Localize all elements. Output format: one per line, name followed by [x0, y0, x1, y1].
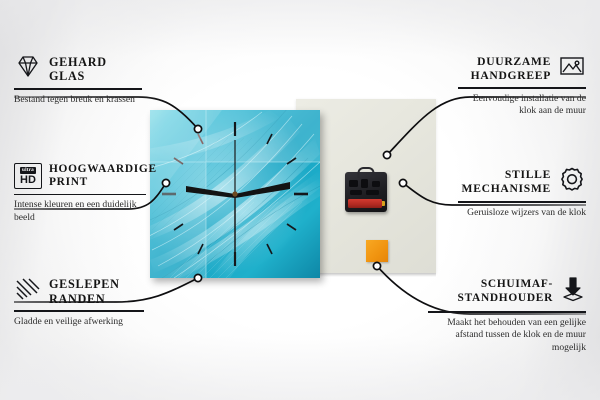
ultra-hd-icon-top-label: ultra — [20, 167, 36, 173]
feature-title: GEHARD GLAS — [49, 55, 107, 84]
feature-header: GEHARD GLAS — [14, 54, 142, 84]
feature-description: Maakt het behouden van een gelijke afsta… — [428, 317, 586, 355]
feature-title-line2: STANDHOUDER — [458, 292, 553, 305]
infographic-stage: GEHARD GLAS Bestand tegen breuk en krass… — [0, 0, 600, 400]
feature-title-line2: HANDGREEP — [471, 69, 551, 83]
clock-face — [150, 110, 320, 278]
feature-description: Gladde en veilige afwerking — [14, 316, 144, 329]
feature-header: DUURZAME HANDGREEP — [458, 54, 586, 83]
feature-gehard-glas: GEHARD GLAS Bestand tegen breuk en krass… — [14, 54, 142, 106]
feature-hoogwaardige-print: ultra HD HOOGWAARDIGE PRINT Intense kleu… — [14, 163, 146, 225]
feature-description: Bestand tegen breuk en krassen — [14, 94, 142, 107]
feature-title-line2: GLAS — [49, 69, 107, 83]
feature-title-line2: RANDEN — [49, 292, 120, 306]
feature-title-line2: PRINT — [49, 176, 157, 189]
feature-title-line1: GEHARD — [49, 55, 107, 69]
feature-description: Geruisloze wijzers van de klok — [458, 207, 586, 220]
feature-title-line1: STILLE — [462, 168, 551, 182]
feature-geslepen-randen: GESLEPEN RANDEN Gladde en veilige afwerk… — [14, 277, 144, 328]
feature-title-line1: GESLEPEN — [49, 277, 120, 291]
feature-divider — [14, 194, 146, 196]
feature-title-line1: HOOGWAARDIGE — [49, 163, 157, 176]
feature-stille-mechanisme: STILLE MECHANISME Geruisloze wijzers van… — [458, 166, 586, 219]
feature-divider — [14, 310, 144, 312]
feature-header: ultra HD HOOGWAARDIGE PRINT — [14, 163, 146, 190]
feature-schuimaf-standhouder: SCHUIMAF- STANDHOUDER Maakt het behouden… — [428, 276, 586, 354]
movement-hanger — [358, 167, 375, 178]
diagonal-lines-icon — [14, 277, 42, 306]
feature-header: GESLEPEN RANDEN — [14, 277, 144, 306]
feature-title: DUURZAME HANDGREEP — [471, 55, 551, 82]
feature-title: STILLE MECHANISME — [462, 168, 551, 195]
clock-movement — [345, 172, 387, 212]
gear-icon — [558, 166, 586, 197]
feature-title-line1: DUURZAME — [471, 55, 551, 69]
clock-face-artwork — [150, 110, 320, 278]
wall-clock — [150, 110, 320, 278]
feature-duurzame-handgreep: DUURZAME HANDGREEP Eenvoudige installati… — [458, 54, 586, 118]
ultra-hd-icon: ultra HD — [14, 163, 42, 189]
feature-description: Eenvoudige installatie van de klok aan d… — [458, 93, 586, 118]
feature-title-line1: SCHUIMAF- — [458, 278, 553, 291]
feature-title: SCHUIMAF- STANDHOUDER — [458, 278, 553, 305]
feature-divider — [14, 88, 142, 90]
feature-title: HOOGWAARDIGE PRINT — [49, 163, 157, 190]
feature-divider — [458, 87, 586, 89]
down-arrow-block-icon — [560, 276, 586, 307]
feature-description: Intense kleuren en een duidelijk beeld — [14, 199, 146, 224]
ultra-hd-icon-main-label: HD — [20, 175, 36, 186]
feature-divider — [428, 311, 586, 313]
battery — [348, 199, 382, 208]
feature-divider — [458, 201, 586, 203]
feature-title: GESLEPEN RANDEN — [49, 277, 120, 306]
picture-frame-icon — [558, 54, 586, 83]
feature-header: SCHUIMAF- STANDHOUDER — [428, 276, 586, 307]
feature-title-line2: MECHANISME — [462, 182, 551, 196]
diamond-icon — [14, 54, 42, 84]
feature-header: STILLE MECHANISME — [458, 166, 586, 197]
foam-spacer-pad — [366, 240, 388, 262]
